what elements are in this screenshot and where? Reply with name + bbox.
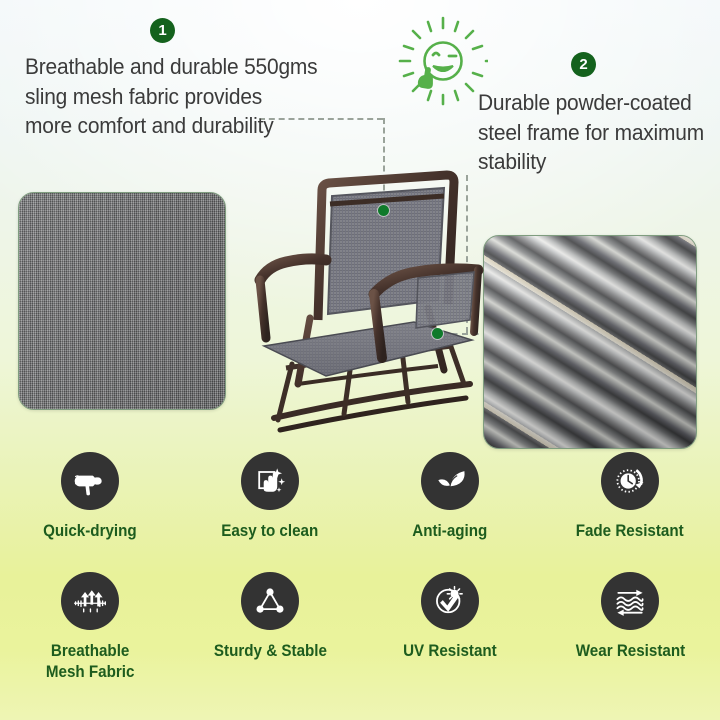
callout-1-text: Breathable and durable 550gms sling mesh… (25, 52, 360, 141)
airflow-mesh-icon (61, 572, 119, 630)
callout-2-text-line-3: stability (478, 147, 711, 177)
feature-item-fade-resistant: Fade Resistant (540, 452, 720, 572)
sun-thumbs-up-doodle (398, 16, 488, 106)
feature-label: Fade Resistant (576, 521, 684, 542)
feature-item-easy-to-clean: Easy to clean (180, 452, 360, 572)
sun-check-icon (421, 572, 479, 630)
product-feature-poster: 1 Breathable and durable 550gms sling me… (0, 0, 720, 720)
feature-label: Breathable Mesh Fabric (46, 641, 135, 682)
clock-arrow-icon (601, 452, 659, 510)
feature-label: Sturdy & Stable (213, 641, 326, 662)
patio-glider-chair (252, 168, 488, 436)
callout-2-text-line-1: Durable powder-coated (478, 88, 711, 118)
feature-item-breathable-mesh-fabric: Breathable Mesh Fabric (0, 572, 180, 720)
fabric-texture (19, 193, 225, 409)
feature-label-line-2: Mesh Fabric (46, 662, 135, 683)
callout-2-text: Durable powder-coated steel frame for ma… (478, 88, 711, 177)
feature-label: Wear Resistant (575, 641, 684, 662)
powder-coated-steel-tubes (483, 235, 697, 449)
callout-2-badge: 2 (571, 52, 596, 77)
callout-2-target-dot (432, 328, 443, 339)
feature-item-uv-resistant: UV Resistant (360, 572, 540, 720)
feature-label: Easy to clean (221, 521, 318, 542)
feature-label: Quick-drying (43, 521, 137, 542)
cleaning-cloth-sparkle-icon (241, 452, 299, 510)
feature-label: Anti-aging (412, 521, 487, 542)
waves-arrows-icon (601, 572, 659, 630)
callout-2-text-line-2: steel frame for maximum (478, 118, 711, 148)
feature-item-wear-resistant: Wear Resistant (540, 572, 720, 720)
callout-1-target-dot (378, 205, 389, 216)
triangle-nodes-icon (241, 572, 299, 630)
hair-dryer-icon (61, 452, 119, 510)
feature-icon-grid: Quick-drying Easy to clean (0, 452, 720, 720)
callout-1-text-line-2: sling mesh fabric provides (25, 82, 360, 112)
leaves-icon (421, 452, 479, 510)
steel-shading (484, 236, 696, 448)
feature-item-quick-drying: Quick-drying (0, 452, 180, 572)
callout-1-badge: 1 (150, 18, 175, 43)
feature-label: UV Resistant (403, 641, 497, 662)
callout-1-text-line-3: more comfort and durability (25, 111, 360, 141)
feature-item-sturdy-stable: Sturdy & Stable (180, 572, 360, 720)
feature-label-line-1: Breathable (46, 641, 135, 662)
callout-1-text-line-1: Breathable and durable 550gms (25, 52, 360, 82)
feature-item-anti-aging: Anti-aging (360, 452, 540, 572)
sling-mesh-fabric-swatch (18, 192, 226, 410)
